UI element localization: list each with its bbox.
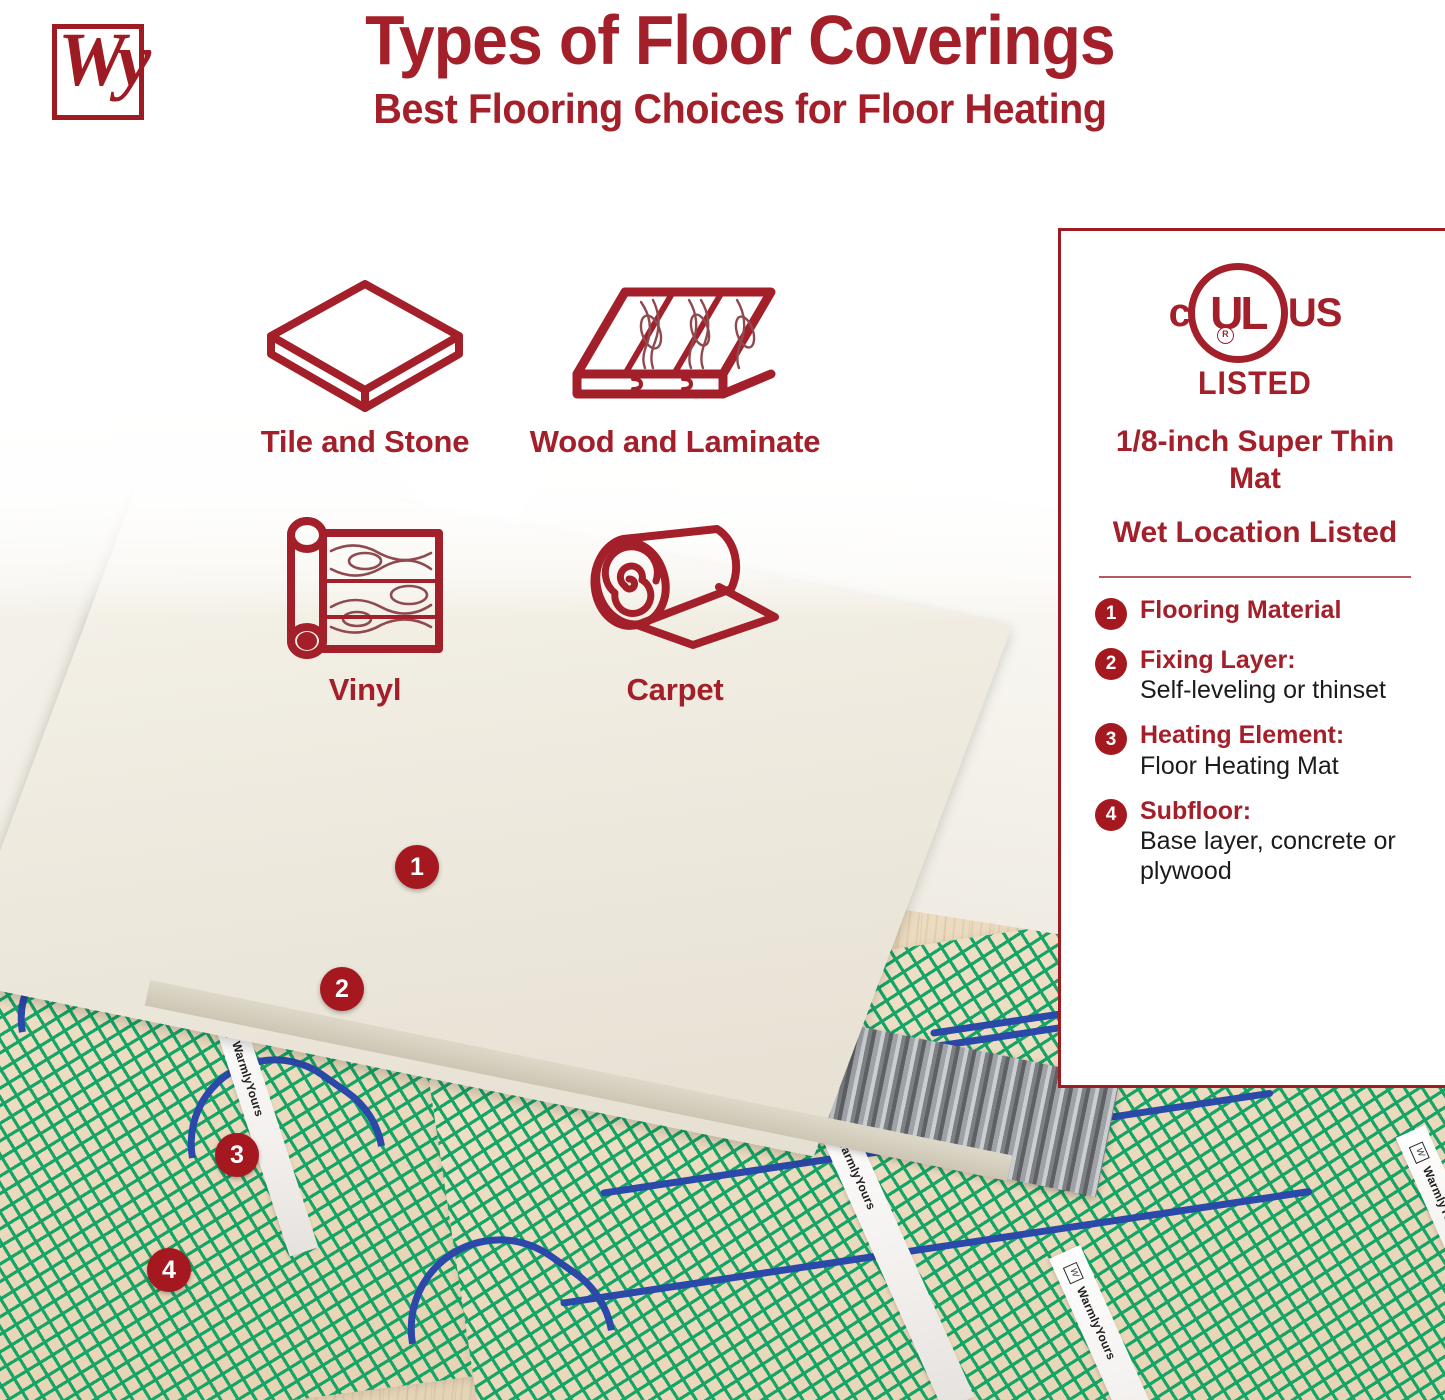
tape-logo-icon: W	[1409, 1141, 1430, 1164]
floor-types-grid: Tile and Stone	[210, 268, 940, 708]
floor-type-wood-laminate: Wood and Laminate	[520, 268, 830, 460]
tile-stone-icon	[210, 268, 520, 420]
legend-title: Subfloor:	[1140, 797, 1415, 827]
floor-type-label: Carpet	[520, 672, 830, 708]
legend-desc: Self-leveling or thinset	[1140, 675, 1415, 705]
legend-text-3: Heating Element: Floor Heating Mat	[1140, 721, 1415, 781]
photo-callout-1: 1	[395, 845, 439, 889]
legend-item-4: 4 Subfloor: Base layer, concrete or plyw…	[1095, 797, 1415, 887]
infographic-page: W WarmlyYours W WarmlyYours W WarmlyYour…	[0, 0, 1445, 1400]
legend-text-4: Subfloor: Base layer, concrete or plywoo…	[1140, 797, 1415, 887]
panel-headline-1: 1/8-inch Super Thin Mat	[1095, 424, 1415, 497]
carpet-roll-icon	[520, 516, 830, 668]
vinyl-roll-icon	[210, 516, 520, 668]
floor-types-row-1: Tile and Stone	[210, 268, 940, 460]
panel-headline-2: Wet Location Listed	[1095, 515, 1415, 552]
info-panel: c UL R US LISTED 1/8-inch Super Thin Mat…	[1058, 228, 1445, 1088]
legend-item-1: 1 Flooring Material	[1095, 596, 1415, 630]
ul-circle-icon: UL R	[1188, 263, 1288, 363]
legend-title: Flooring Material	[1140, 596, 1415, 626]
floor-type-label: Wood and Laminate	[520, 424, 830, 460]
floor-type-label: Vinyl	[210, 672, 520, 708]
panel-divider	[1099, 576, 1411, 578]
ul-suffix-us: US	[1288, 293, 1342, 333]
ul-listed-mark: c UL R US LISTED	[1095, 263, 1415, 402]
photo-callout-4: 4	[147, 1248, 191, 1292]
wood-laminate-icon	[520, 268, 830, 420]
registered-trademark-icon: R	[1217, 327, 1234, 344]
floor-type-vinyl: Vinyl	[210, 516, 520, 708]
legend-desc: Floor Heating Mat	[1140, 751, 1415, 781]
floor-type-carpet: Carpet	[520, 516, 830, 708]
ul-mark-row: c UL R US	[1169, 263, 1342, 363]
photo-callout-2: 2	[320, 967, 364, 1011]
legend-badge-2: 2	[1095, 648, 1127, 680]
ul-prefix-c: c	[1169, 293, 1190, 333]
page-title: Types of Floor Coverings	[216, 4, 1265, 78]
legend-item-3: 3 Heating Element: Floor Heating Mat	[1095, 721, 1415, 781]
legend-title: Heating Element:	[1140, 721, 1415, 751]
floor-types-row-2: Vinyl Carpet	[210, 516, 940, 708]
legend-text-1: Flooring Material	[1140, 596, 1415, 626]
floor-type-label: Tile and Stone	[210, 424, 520, 460]
ul-listed-text: LISTED	[1198, 365, 1312, 402]
brand-logo: Wy	[42, 16, 158, 132]
floor-type-tile-stone: Tile and Stone	[210, 268, 520, 460]
legend-item-2: 2 Fixing Layer: Self-leveling or thinset	[1095, 646, 1415, 706]
title-block: Types of Floor Coverings Best Flooring C…	[170, 4, 1310, 132]
logo-monogram-icon: Wy	[58, 22, 158, 98]
legend-desc: Base layer, concrete or plywood	[1140, 826, 1415, 886]
photo-callout-3: 3	[215, 1133, 259, 1177]
legend-badge-1: 1	[1095, 598, 1127, 630]
legend-text-2: Fixing Layer: Self-leveling or thinset	[1140, 646, 1415, 706]
tape-logo-icon: W	[1063, 1262, 1084, 1285]
legend-title: Fixing Layer:	[1140, 646, 1415, 676]
legend-badge-4: 4	[1095, 799, 1127, 831]
page-subtitle: Best Flooring Choices for Floor Heating	[204, 86, 1276, 132]
legend-badge-3: 3	[1095, 723, 1127, 755]
